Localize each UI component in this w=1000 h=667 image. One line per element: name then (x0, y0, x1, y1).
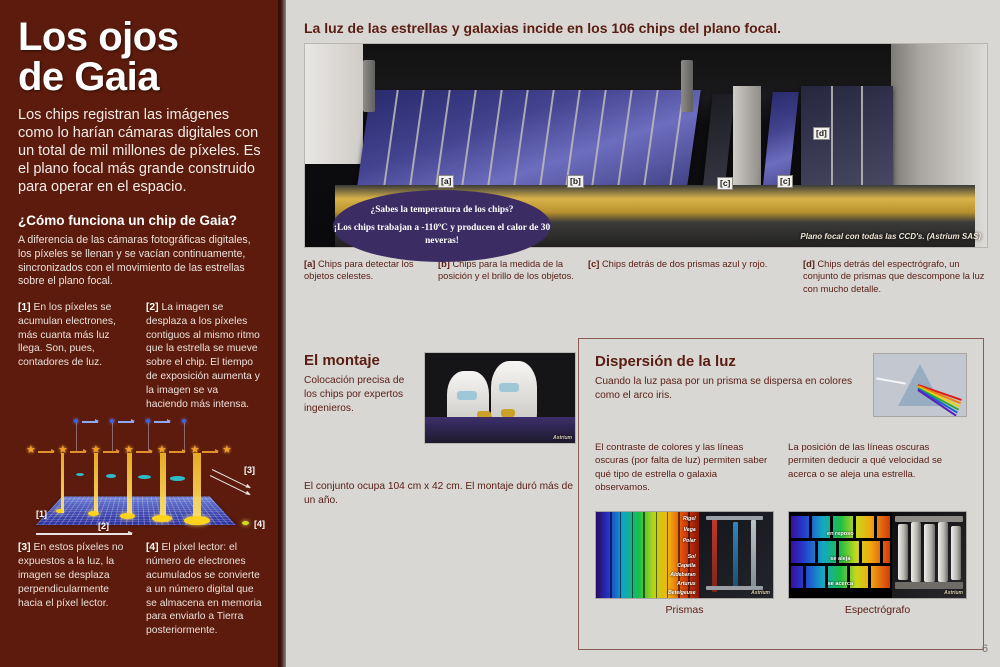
step-2-text: La imagen se desplaza a los píxeles cont… (146, 302, 260, 410)
espectrografo-block: en reposo se aleja se acerca (788, 511, 967, 616)
montaje-section: El montaje Colocación precisa de los chi… (304, 352, 576, 509)
ccd-diagram: ★ ★ ★ ★ ★ ★ ★ [1] [2] [3 (14, 417, 276, 537)
legend-row: [a] Chips para detectar los objetos cele… (304, 258, 994, 295)
blue-arrow-icon (82, 421, 98, 423)
doppler-label-receding: se aleja (791, 556, 890, 562)
prismas-block: Rigel Vega Polar Sol Capella Aldebaran A… (595, 511, 774, 616)
steps-bottom-row: [3] En estos píxeles no expuestos a la l… (18, 541, 262, 638)
step-3-tag: [3] (18, 542, 31, 553)
sidebar: Los ojos de Gaia Los chips registran las… (0, 0, 278, 667)
star-arrow-icon (136, 451, 152, 453)
steps-top-row: [1] En los píxeles se acumulan electrone… (18, 301, 262, 411)
dispersion-heading: Dispersión de la luz (595, 353, 859, 370)
page-title-block: Los ojos de Gaia (18, 18, 262, 97)
prism-hardware-photo: Astrium (699, 512, 773, 598)
prism-illustration (873, 353, 967, 417)
step-2-tag: [2] (146, 302, 159, 313)
light-cone (94, 453, 98, 515)
callout-line-1: ¿Sabes la temperatura de los chips? (371, 205, 514, 215)
cyan-blob (76, 473, 84, 476)
stem (112, 423, 113, 453)
reader-pixel (242, 521, 249, 525)
dispersion-panel: Dispersión de la luz Cuando la luz pasa … (578, 338, 984, 650)
photo-tag-d: [d] (813, 127, 830, 140)
light-cone (61, 453, 64, 513)
legend-d-text: Chips detrás del espectrógrafo, un conju… (803, 259, 984, 294)
blue-arrow-icon (118, 421, 134, 423)
step-2: [2] La imagen se desplaza a los píxeles … (146, 301, 262, 411)
legend-d-tag: [d] (803, 259, 815, 269)
alignment-tower-left (363, 60, 375, 112)
face-mask (457, 391, 477, 400)
ccd-array-d (801, 86, 893, 194)
ccd-array-main (355, 90, 700, 200)
espectrografo-frame: en reposo se aleja se acerca (788, 511, 967, 599)
face-mask (499, 383, 519, 392)
star-icon: ★ (222, 445, 232, 456)
light-cone (193, 453, 201, 521)
title-line-1: Los ojos (18, 18, 262, 58)
cyan-blob (106, 474, 116, 478)
spectrograph-prism (898, 524, 908, 580)
diagram-label-1: [1] (36, 509, 47, 519)
step-4-text: El píxel lector: el número de electrones… (146, 542, 262, 636)
photo-watermark: Astrium (553, 435, 572, 441)
photo-backdrop-left (305, 44, 363, 164)
dispersion-body: Cuando la luz pasa por un prisma se disp… (595, 375, 859, 403)
star-label-vega: Vega (683, 527, 695, 533)
light-cone (160, 453, 166, 519)
stem (76, 423, 77, 453)
prismas-watermark: Astrium (751, 590, 770, 596)
star-label-arturus: Arturus (677, 581, 696, 587)
montaje-text-block: El montaje Colocación precisa de los chi… (304, 352, 414, 444)
spectrograph-prism (951, 526, 961, 580)
light-cone (127, 453, 132, 517)
doppler-label-rest: en reposo (791, 531, 890, 537)
photo-caption: Plano focal con todas las CCD's. (Astriu… (800, 232, 981, 241)
step-3: [3] En estos píxeles no expuestos a la l… (18, 541, 134, 638)
espectrografo-watermark: Astrium (944, 590, 963, 596)
spectrograph-prism (924, 524, 934, 582)
star-label-rigel: Rigel (683, 516, 696, 522)
stellar-spectra-image: Rigel Vega Polar Sol Capella Aldebaran A… (596, 512, 699, 598)
sidebar-edge-divider (278, 0, 286, 667)
doppler-row-receding: se aleja (791, 541, 890, 563)
espectrografo-caption: Espectrógrafo (788, 604, 967, 616)
prismas-frame: Rigel Vega Polar Sol Capella Aldebaran A… (595, 511, 774, 599)
cyan-blob (138, 475, 151, 479)
mount-bar-bottom (895, 582, 963, 589)
legend-c: [c] Chips detrás de dos prismas azul y r… (588, 258, 803, 295)
mount-bar-top (895, 516, 963, 522)
legend-c-tag: [c] (588, 259, 599, 269)
dispersion-col-right: La posición de las líneas oscuras permit… (788, 441, 967, 495)
question-heading: ¿Cómo funciona un chip de Gaia? (18, 213, 262, 228)
legend-a: [a] Chips para detectar los objetos cele… (304, 258, 438, 295)
page-number: 6 (982, 643, 988, 655)
doppler-row-approaching: se acerca (791, 566, 890, 588)
star-label-betelgeuse: Betelgeuse (668, 590, 696, 596)
montaje-photo: Astrium (424, 352, 576, 444)
star-label-polar: Polar (683, 538, 696, 544)
step-1-tag: [1] (18, 302, 31, 313)
prismas-caption: Prismas (595, 604, 774, 616)
legend-c-text: Chips detrás de dos prismas azul y rojo. (602, 259, 767, 269)
dispersion-text-block: Dispersión de la luz Cuando la luz pasa … (595, 353, 859, 417)
main-heading: La luz de las estrellas y galaxias incid… (304, 20, 781, 36)
star-icon: ★ (26, 445, 36, 456)
step-1-text: En los píxeles se acumulan electrones, m… (18, 302, 116, 368)
question-body: A diferencia de las cámaras fotográficas… (18, 234, 262, 289)
step-4: [4] El píxel lector: el número de electr… (146, 541, 262, 638)
star-label-aldebaran: Aldebaran (670, 572, 695, 578)
step-3-text: En estos píxeles no expuestos a la luz, … (18, 542, 123, 608)
star-arrow-icon (169, 451, 185, 453)
star-arrow-icon (103, 451, 119, 453)
doppler-label-approaching: se acerca (791, 581, 890, 587)
dispersion-col-left: El contraste de colores y las líneas osc… (595, 441, 774, 495)
photo-tag-b: [b] (567, 175, 584, 188)
star-arrow-icon (70, 451, 86, 453)
callout-line-2: ¡Los chips trabajan a -110ºC y producen … (333, 222, 551, 246)
cyan-blob (170, 476, 185, 481)
dispersion-images-row: Rigel Vega Polar Sol Capella Aldebaran A… (595, 511, 967, 616)
intro-paragraph: Los chips registran las imágenes como lo… (18, 107, 262, 197)
main-content: La luz de las estrellas y galaxias incid… (286, 0, 1000, 667)
star-arrow-icon (202, 451, 218, 453)
dispersion-columns: El contraste de colores y las líneas osc… (595, 441, 967, 495)
photo-tag-a: [a] (438, 175, 454, 188)
legend-b-text: Chips para la medida de la posición y el… (438, 259, 574, 281)
blue-arrow-icon (154, 421, 170, 423)
spectrograph-hardware-photo: Astrium (892, 512, 966, 598)
diagram-label-4: [4] (254, 519, 265, 529)
star-arrow-icon (38, 451, 54, 453)
step-1: [1] En los píxeles se acumulan electrone… (18, 301, 134, 411)
legend-b: [b] Chips para la medida de la posición … (438, 258, 588, 295)
star-label-sol: Sol (688, 554, 696, 560)
step-4-tag: [4] (146, 542, 159, 553)
spectrograph-prism (938, 522, 948, 582)
montaje-top-row: El montaje Colocación precisa de los chi… (304, 352, 576, 444)
alignment-tower-right (681, 60, 693, 112)
doppler-row-rest: en reposo (791, 516, 890, 538)
dispersion-top-row: Dispersión de la luz Cuando la luz pasa … (595, 353, 967, 417)
title-line-2: de Gaia (18, 58, 262, 98)
photo-tag-c1: [c] (717, 177, 733, 190)
legend-a-text: Chips para detectar los objetos celestes… (304, 259, 414, 281)
shift-arrow (36, 533, 132, 534)
hardware-rod (733, 522, 738, 590)
star-label-capella: Capella (677, 563, 695, 569)
photo-tag-c2: [c] (777, 175, 793, 188)
hardware-crossbar (706, 516, 762, 520)
glove (501, 409, 515, 417)
did-you-know-callout: ¿Sabes la temperatura de los chips? ¡Los… (333, 190, 551, 262)
legend-a-tag: [a] (304, 259, 315, 269)
legend-d: [d] Chips detrás del espectrógrafo, un c… (803, 258, 993, 295)
montaje-heading: El montaje (304, 352, 414, 369)
montaje-note: El conjunto ocupa 104 cm x 42 cm. El mon… (304, 480, 576, 509)
doppler-spectra-image: en reposo se aleja se acerca (789, 512, 892, 598)
spectrograph-prism (911, 522, 921, 582)
diagram-label-2: [2] (98, 521, 109, 531)
diagram-label-3: [3] (244, 465, 255, 475)
montaje-body: Colocación precisa de los chips por expe… (304, 374, 414, 416)
hardware-rod (712, 518, 717, 592)
hardware-rod (751, 520, 756, 590)
